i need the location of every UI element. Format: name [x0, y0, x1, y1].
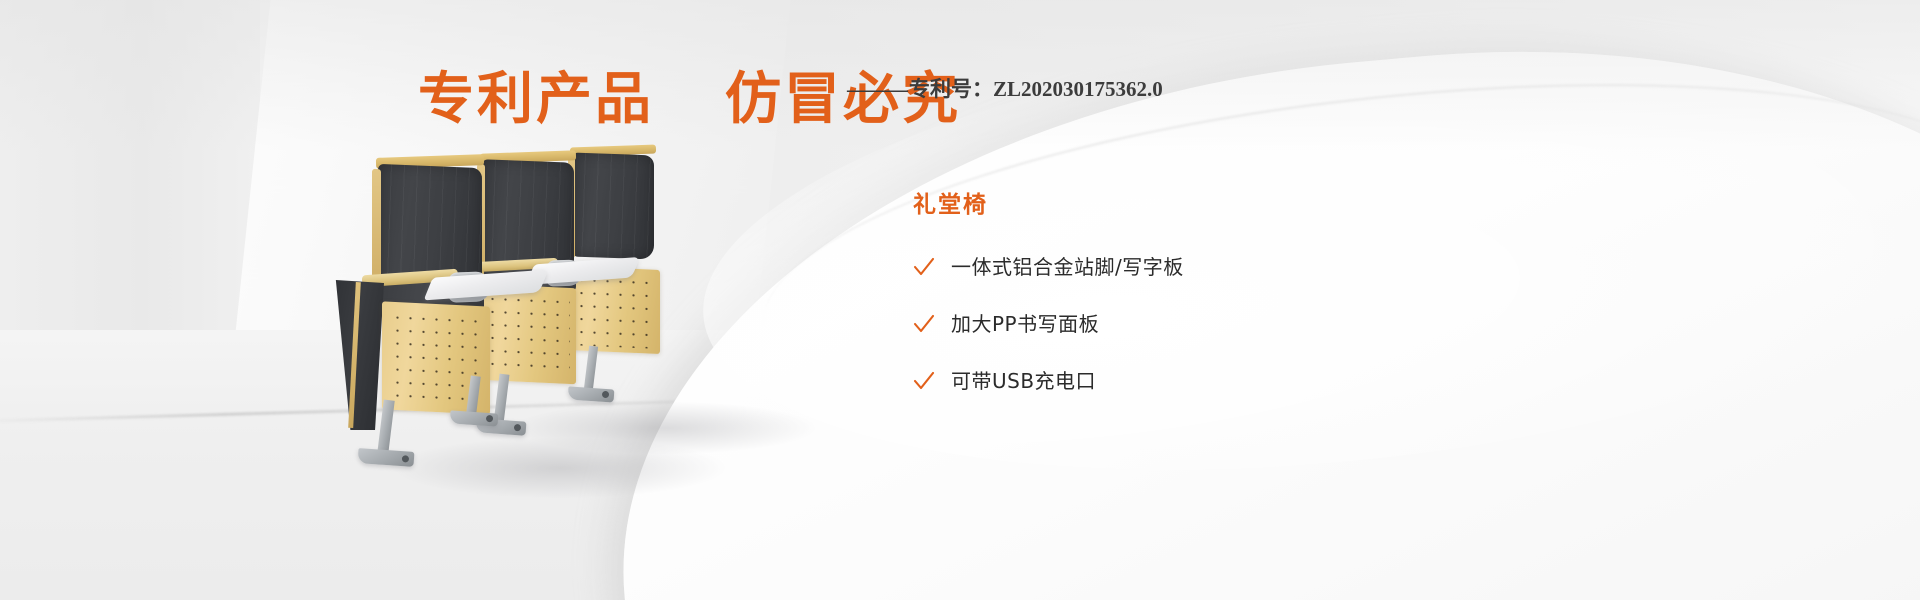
- feature-label: 可带USB充电口: [951, 365, 1096, 394]
- floor-shadow: [515, 402, 815, 454]
- check-icon: [913, 256, 935, 278]
- check-icon: [913, 370, 935, 392]
- feature-item: 加大PP书写面板: [913, 308, 1433, 337]
- patent-number-line: ———专利号：ZL202030175362.0: [847, 73, 1163, 103]
- chair-foot: [450, 410, 499, 426]
- chair-foot: [358, 448, 415, 467]
- foot-bolt: [486, 415, 493, 422]
- feature-label: 一体式铝合金站脚/写字板: [951, 251, 1184, 280]
- feature-label: 加大PP书写面板: [951, 308, 1099, 337]
- foot-bolt: [602, 391, 609, 398]
- foot-bolt: [402, 455, 409, 462]
- product-feature-panel: 礼堂椅 一体式铝合金站脚/写字板 加大PP书写面板: [913, 185, 1433, 422]
- check-icon: [913, 313, 935, 335]
- product-image-auditorium-chairs: [300, 120, 820, 500]
- backrest: [572, 153, 654, 260]
- patent-dash-prefix: ———: [847, 77, 907, 101]
- patent-number-value: ZL202030175362.0: [993, 77, 1163, 101]
- patent-label: 专利号：: [909, 77, 993, 101]
- chair-foot: [568, 386, 615, 402]
- feature-item: 一体式铝合金站脚/写字板: [913, 251, 1433, 280]
- foot-bolt: [514, 424, 521, 431]
- perforated-front-panel: [478, 284, 576, 384]
- product-title: 礼堂椅: [913, 185, 1433, 219]
- feature-item: 可带USB充电口: [913, 365, 1433, 394]
- product-banner: 专利产品 仿冒必究 ———专利号：ZL202030175362.0 礼堂椅 一体…: [0, 0, 1920, 600]
